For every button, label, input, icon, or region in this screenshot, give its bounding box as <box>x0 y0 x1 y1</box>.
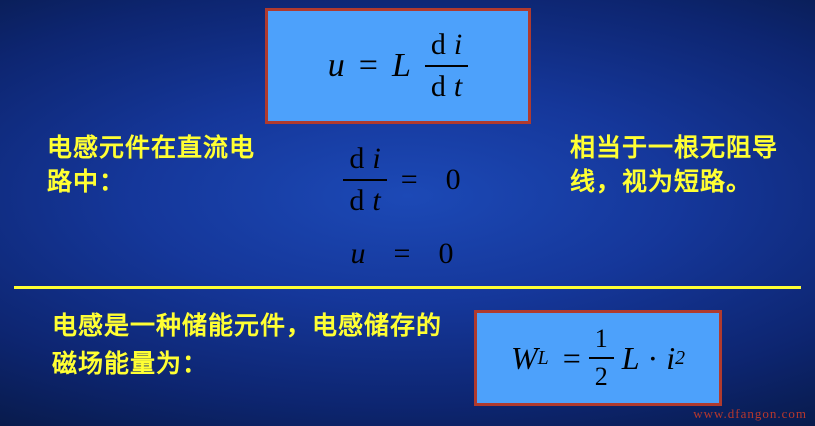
mid-eq1-den-t: t <box>372 184 380 218</box>
top-formula-num-i: i <box>454 28 462 62</box>
top-formula-L: L <box>392 47 411 85</box>
mid-equation-1: d i d t = 0 <box>272 142 532 218</box>
bottom-formula-denominator: 2 <box>595 362 608 392</box>
top-formula-u: u <box>328 47 345 85</box>
mid-eq2-equals: = <box>394 237 411 271</box>
mid-equation-1-row: d i d t = 0 <box>272 142 532 218</box>
top-formula-num-d: d <box>431 28 446 62</box>
mid-eq1-value: 0 <box>446 163 461 197</box>
mid-eq1-equals: = <box>401 163 418 197</box>
mid-eq1-fraction-bar <box>343 179 386 181</box>
bottom-formula-half: 1 2 <box>589 323 614 393</box>
mid-equation-2-row: u = 0 <box>272 232 532 276</box>
top-formula-den-t: t <box>454 70 462 104</box>
bottom-formula-box: WL = 1 2 L · i2 <box>474 310 722 406</box>
right-description-text: 相当于一根无阻导线，视为短路。 <box>570 132 800 200</box>
bottom-formula-equals: = <box>563 340 581 377</box>
bottom-formula-L: L <box>622 340 640 377</box>
mid-eq1-fraction: d i d t <box>343 141 386 219</box>
watermark-text: www.dfangon.com <box>693 406 807 422</box>
bottom-formula-fraction-bar <box>589 357 614 359</box>
top-formula-fraction: d i d t <box>425 27 468 105</box>
bottom-description-text: 电感是一种储能元件，电感储存的磁场能量为： <box>52 308 452 383</box>
mid-eq2-u: u <box>351 237 366 271</box>
left-description-text: 电感元件在直流电路中： <box>47 132 257 200</box>
top-formula-equals: = <box>359 47 378 85</box>
bottom-formula-i: i <box>666 340 675 377</box>
bottom-formula-row: WL = 1 2 L · i2 <box>477 313 719 403</box>
bottom-formula-exponent: 2 <box>675 347 685 370</box>
mid-eq2-value: 0 <box>438 237 453 271</box>
top-formula-box: u = L d i d t <box>265 8 531 124</box>
bottom-formula-W: W <box>511 340 538 377</box>
horizontal-divider <box>14 286 801 289</box>
mid-eq1-num-i: i <box>372 142 380 176</box>
bottom-formula-numerator: 1 <box>595 324 608 354</box>
mid-eq1-num-d: d <box>349 142 364 176</box>
slide-canvas: u = L d i d t 电感元件在直流电路中： <box>0 0 815 426</box>
top-formula-den-d: d <box>431 70 446 104</box>
bottom-formula-W-subscript: L <box>538 347 549 370</box>
bottom-formula-dot: · <box>648 340 659 377</box>
mid-eq1-den-d: d <box>349 184 364 218</box>
top-formula-fraction-bar <box>425 65 468 67</box>
top-formula-row: u = L d i d t <box>268 11 528 121</box>
mid-equation-2: u = 0 <box>272 232 532 276</box>
